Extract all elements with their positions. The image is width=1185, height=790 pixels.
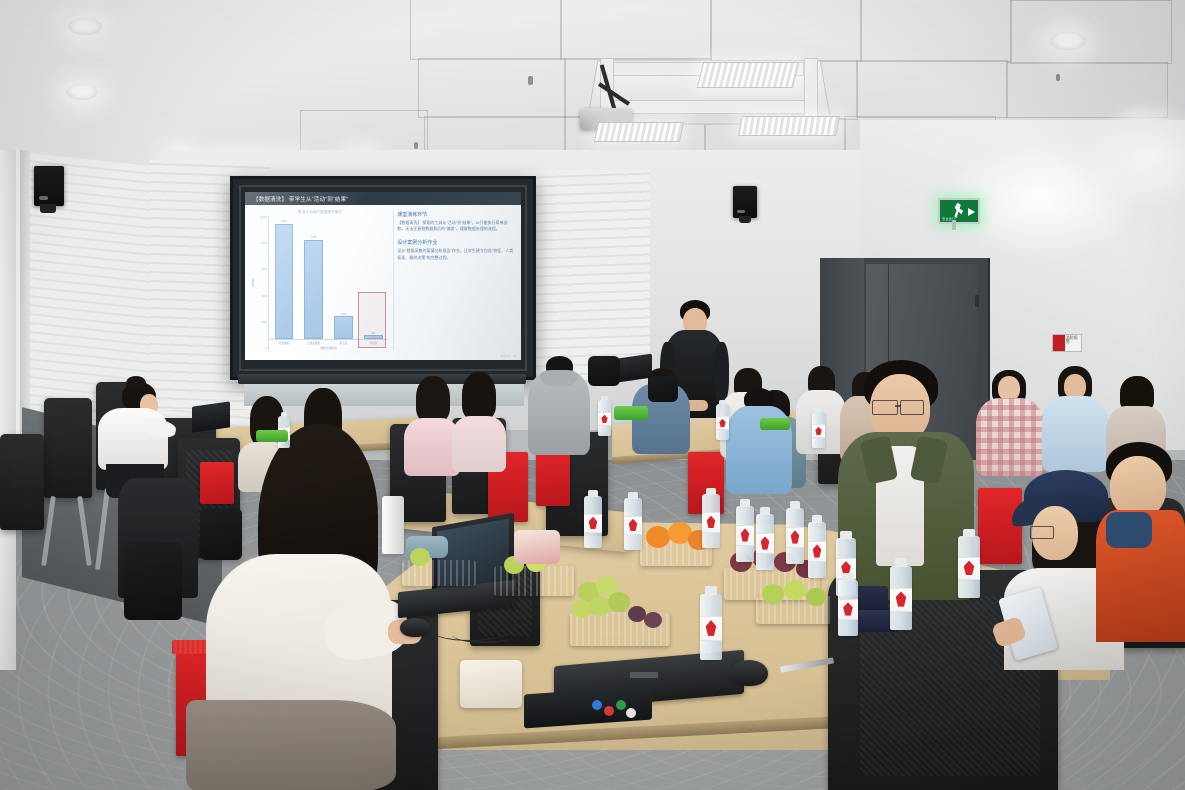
- water-bottle[interactable]: [958, 536, 980, 598]
- water-bottle[interactable]: [890, 566, 912, 630]
- y-tick: 0: [256, 347, 267, 350]
- sprinkler-head: [528, 76, 533, 85]
- hair: [416, 376, 450, 422]
- laptop-back[interactable]: [618, 354, 652, 383]
- chart-title: 图 某平台用户数据清洗情况: [251, 210, 388, 215]
- torso: [98, 408, 168, 470]
- ceiling-panel-light: [738, 116, 840, 136]
- y-tick: 4000: [256, 295, 267, 298]
- slide-section-heading: 课堂演练环节: [397, 211, 515, 218]
- fruit-apple: [784, 580, 806, 600]
- draped-coat: [186, 700, 396, 790]
- marker-caps[interactable]: [616, 700, 626, 710]
- office-chair[interactable]: [44, 398, 92, 498]
- classroom-photo: 安全出口 消防报警 【数据清洗】 带学生从“活动”到“结果” 图 某平台用户数据…: [0, 0, 1185, 790]
- fruit-grapes-dark: [644, 612, 662, 628]
- backpack[interactable]: [200, 508, 242, 560]
- fire-alarm-panel[interactable]: 消防报警: [1052, 334, 1082, 352]
- speaker-bracket: [739, 216, 751, 223]
- wall-speaker-right: [733, 186, 757, 218]
- ceiling-panel-light: [697, 62, 799, 88]
- hair-bun: [126, 376, 146, 390]
- running-man-icon: [954, 203, 964, 219]
- torso: [452, 416, 506, 472]
- bar-column: 9200: [273, 216, 296, 339]
- bar: [275, 224, 294, 339]
- woman-plaid-shirt: [976, 370, 1044, 478]
- fire-panel-indicator: [1053, 335, 1065, 351]
- slide-title-bar: 【数据清洗】 带学生从“活动”到“结果”: [245, 192, 521, 205]
- bar-column: 1700: [332, 216, 355, 339]
- person-back-gray-hoodie: [528, 356, 590, 460]
- screen-backwall-slats: [520, 170, 650, 380]
- fruit-orange: [646, 526, 670, 548]
- backpack[interactable]: [124, 542, 182, 620]
- laptop-back[interactable]: [192, 401, 230, 432]
- man-blue-shirt: [726, 388, 792, 494]
- snack-bag: [514, 530, 560, 564]
- water-bottle[interactable]: [786, 508, 804, 564]
- fruit-apple: [762, 584, 784, 604]
- slide-body: 图 某平台用户数据清洗情况 记录数 10000 8000 6000 4000 2…: [245, 205, 521, 354]
- exit-sign: 安全出口: [938, 198, 980, 224]
- chart-bars-area: 9200 7900 1700: [268, 216, 388, 350]
- door-hinge: [975, 295, 979, 307]
- glasses: [872, 400, 898, 415]
- mouse[interactable]: [730, 660, 768, 686]
- fruit-basket-back[interactable]: [614, 406, 648, 420]
- water-bottle[interactable]: [702, 494, 720, 548]
- water-bottle[interactable]: [598, 400, 611, 436]
- chart-bars: 9200 7900 1700: [269, 216, 388, 340]
- water-bottle[interactable]: [736, 506, 754, 562]
- ac-vane: [804, 58, 818, 122]
- ceiling-panel-light: [594, 122, 684, 142]
- chart-highlight-box: [358, 292, 386, 348]
- sprinkler-head: [414, 142, 418, 149]
- thermos[interactable]: [382, 496, 404, 554]
- fruit-grapes-green: [572, 600, 592, 618]
- x-tick: 原始数据: [273, 341, 296, 345]
- slide-title: 【数据清洗】 带学生从“活动”到“结果”: [253, 195, 348, 203]
- man-orange-jacket: [1096, 442, 1185, 642]
- ceiling-downlight: [1050, 32, 1086, 50]
- ac-vane: [606, 100, 810, 114]
- y-tick: 10000: [256, 216, 267, 219]
- slide-footer: 数据清洗 · 05: [245, 354, 521, 360]
- slide-section-body: 【数据清洗】 探索的工具从“活动”到“结果”，AI只能执行简单函数，无法注意到数…: [397, 220, 515, 232]
- tissue-pack[interactable]: [460, 660, 522, 708]
- y-tick: 6000: [256, 268, 267, 271]
- bar-column: 7900: [302, 216, 325, 339]
- glasses: [1030, 526, 1054, 539]
- backpack[interactable]: [648, 376, 678, 402]
- wall-pillar: [0, 150, 16, 670]
- x-tick: 补全后: [332, 341, 355, 345]
- fruit-basket-back[interactable]: [256, 430, 288, 442]
- fruit-apple: [410, 548, 430, 566]
- head: [1110, 456, 1166, 518]
- marker-caps[interactable]: [604, 706, 614, 716]
- laptop-logo: [630, 672, 658, 678]
- water-bottle[interactable]: [812, 412, 825, 448]
- y-tick: 8000: [256, 242, 267, 245]
- fruit-grapes-green: [608, 592, 630, 612]
- marker-caps[interactable]: [592, 700, 602, 710]
- slide: 【数据清洗】 带学生从“活动”到“结果” 图 某平台用户数据清洗情况 记录数 1…: [245, 192, 521, 360]
- bar: [304, 240, 323, 339]
- exit-arrow-icon: [968, 208, 975, 216]
- speaker-bracket: [40, 204, 56, 213]
- chart-y-ticks: 10000 8000 6000 4000 2000 0: [256, 216, 268, 350]
- slide-text-panel: 课堂演练环节 【数据清洗】 探索的工具从“活动”到“结果”，AI只能执行简单函数…: [393, 210, 515, 350]
- wall-speaker-left: [34, 166, 64, 206]
- ceiling-downlight: [68, 18, 102, 35]
- bar: [334, 316, 353, 339]
- water-bottle[interactable]: [584, 496, 602, 548]
- glasses-bridge: [895, 405, 901, 407]
- chart: 图 某平台用户数据清洗情况 记录数 10000 8000 6000 4000 2…: [251, 210, 388, 350]
- exit-sign-bracket: [952, 220, 956, 230]
- glasses: [900, 400, 924, 415]
- water-bottle[interactable]: [756, 514, 774, 570]
- water-bottle[interactable]: [700, 594, 722, 660]
- chart-plot-area: 记录数 10000 8000 6000 4000 2000 0: [251, 216, 388, 350]
- hood: [540, 370, 578, 386]
- backpack[interactable]: [588, 356, 620, 386]
- person-mid-pink2: [452, 372, 506, 472]
- projection-screen[interactable]: 【数据清洗】 带学生从“活动”到“结果” 图 某平台用户数据清洗情况 记录数 1…: [245, 192, 521, 360]
- slide-section-body: 设计“数据采集的某情分析报告”作业，让学生建立包含“特征、人类复现、最终决策”的…: [397, 248, 515, 260]
- fruit-apple: [806, 588, 826, 606]
- woman-white-sweater-left: [98, 382, 176, 492]
- mouse[interactable]: [400, 618, 430, 637]
- cable: [452, 626, 516, 643]
- fire-panel-label: 消防报警: [1065, 335, 1081, 351]
- fruit-basket-back[interactable]: [760, 418, 790, 430]
- y-tick: 2000: [256, 321, 267, 324]
- slide-section-heading: 设计案例分析作业: [397, 239, 515, 246]
- jacket-collar: [1106, 512, 1152, 548]
- water-bottle[interactable]: [716, 404, 729, 440]
- x-tick: 去重后数据: [302, 341, 325, 345]
- marker-caps[interactable]: [626, 708, 636, 718]
- ceiling-downlight: [66, 84, 98, 100]
- sprinkler-head: [1056, 74, 1060, 81]
- chart-y-axis-label: 记录数: [251, 279, 255, 288]
- hair: [462, 372, 496, 420]
- water-bottle[interactable]: [838, 580, 858, 636]
- projection-screen-frame: 【数据清洗】 带学生从“活动”到“结果” 图 某平台用户数据清洗情况 记录数 1…: [230, 176, 536, 380]
- torso: [976, 398, 1044, 476]
- water-bottle[interactable]: [808, 522, 826, 578]
- water-bottle[interactable]: [624, 498, 642, 550]
- office-chair[interactable]: [0, 434, 44, 530]
